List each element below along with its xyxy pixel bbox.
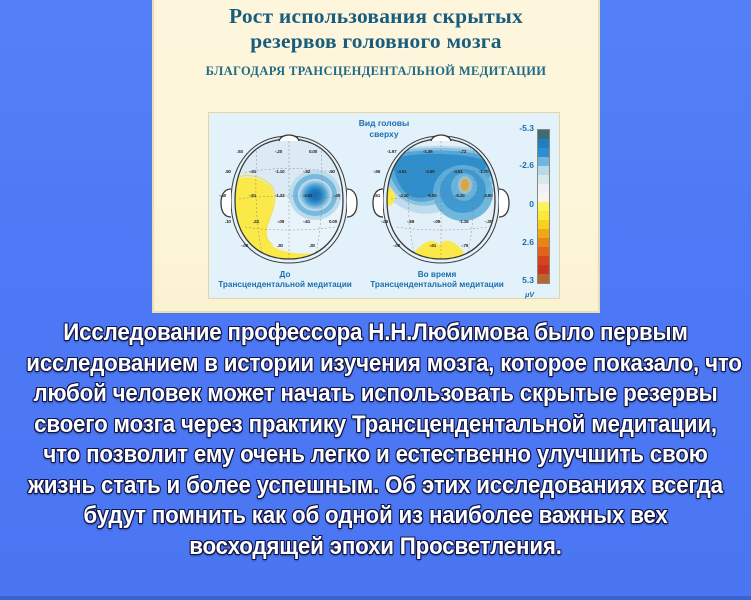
colorbar-tick-4: 5.3	[522, 275, 534, 285]
head-map-before: .93-.200.00.50-.61-1.10-.92.50-.40-.61-1…	[215, 133, 363, 273]
map-value-label: -.40	[219, 193, 226, 198]
chart-view-caption-line1: Вид головы	[302, 118, 467, 129]
slide-root: Рост использования скрытых резервов голо…	[0, 0, 751, 600]
map-value-label: -2.69	[425, 169, 434, 174]
body-line-3: своего мозга через практику Трансцендент…	[26, 410, 724, 441]
colorbar-unit-label: μV	[525, 292, 534, 299]
map-value-label: -.30	[485, 219, 492, 224]
colorbar-band-13	[538, 247, 549, 256]
body-line-6: будут помнить как об одной из наиболее в…	[26, 501, 724, 532]
title-block: Рост использования скрытых резервов голо…	[154, 4, 598, 79]
colorbar-band-2	[538, 148, 549, 157]
map-value-label: -.69	[407, 219, 414, 224]
map-value-label: -1.32	[275, 193, 284, 198]
map-value-label: -4.61	[303, 193, 312, 198]
map-value-label: -.55	[373, 169, 380, 174]
bottom-edge-strip	[0, 596, 751, 600]
map-value-label: -.61	[373, 193, 380, 198]
body-line-5: жизнь стать и более успешным. Об этих ис…	[26, 471, 724, 502]
colorbar-band-15	[538, 265, 549, 274]
map-value-label: -.09	[277, 219, 284, 224]
colorbar-band-8	[538, 202, 549, 211]
map-value-label: -.00	[393, 243, 400, 248]
map-value-label: -5.00	[427, 193, 436, 198]
body-line-4: что позволит ему очень легко и естествен…	[26, 440, 724, 471]
colorbar-band-5	[538, 175, 549, 184]
head-map-during: -1.97-1.36-.73-.55-3.61-2.69-3.01-1.70-.…	[367, 133, 515, 273]
colorbar-band-7	[538, 193, 549, 202]
colorbar-legend: -5.3 -2.6 0 2.6 5.3 μV	[506, 123, 552, 290]
map-value-label: -.61	[429, 243, 436, 248]
colorbar-gradient	[537, 129, 550, 284]
map-value-label: -.73	[459, 149, 466, 154]
colorbar-band-0	[538, 130, 549, 139]
map-value-label: -.79	[461, 243, 468, 248]
colorbar-band-16	[538, 274, 549, 283]
colorbar-tick-0: -5.3	[519, 123, 534, 133]
map-value-label: -3.61	[397, 169, 406, 174]
head-map-before-svg	[215, 133, 363, 273]
map-value-label: .30	[277, 243, 283, 248]
eeg-chart-panel: Вид головы сверху	[208, 112, 560, 299]
map-value-label: -1.97	[387, 149, 396, 154]
map-value-label: .50	[225, 169, 231, 174]
map-value-label: -1.36	[423, 149, 432, 154]
page-title-line-2: резервов головного мозга	[154, 29, 598, 54]
page-subtitle: БЛАГОДАРЯ ТРАНСЦЕНДЕНТАЛЬНОЙ МЕДИТАЦИИ	[154, 63, 598, 79]
head-map-during-svg	[367, 133, 515, 273]
map-value-label: -.61	[249, 169, 256, 174]
colorbar-band-3	[538, 157, 549, 166]
caption-before-bottom: Трансцендентальной медитации	[201, 280, 369, 289]
colorbar-tick-2: 0	[529, 199, 534, 209]
map-value-label: .10	[225, 219, 231, 224]
caption-during-bottom: Трансцендентальной медитации	[353, 280, 521, 289]
map-value-label: -.20	[275, 149, 282, 154]
map-value-label: -1.16	[459, 219, 468, 224]
colorbar-band-12	[538, 238, 549, 247]
map-value-label: .93	[237, 149, 243, 154]
map-value-label: -.00	[241, 243, 248, 248]
colorbar-band-14	[538, 256, 549, 265]
colorbar-band-1	[538, 139, 549, 148]
map-value-label: .24	[253, 219, 259, 224]
colorbar-band-9	[538, 211, 549, 220]
body-line-2: любой человек может начать использовать …	[26, 379, 724, 410]
colorbar-tick-1: -2.6	[519, 160, 534, 170]
map-value-label: -.45	[333, 193, 340, 198]
map-value-label: 0.00	[309, 149, 317, 154]
page-title-line-1: Рост использования скрытых	[154, 4, 598, 29]
map-value-label: -3.01	[453, 169, 462, 174]
colorbar-tick-3: 2.6	[522, 237, 534, 247]
caption-before-top: До	[211, 270, 359, 279]
map-value-label: -.61	[249, 193, 256, 198]
body-line-0: Исследование профессора Н.Н.Любимова был…	[26, 318, 724, 349]
map-value-label: -.61	[303, 219, 310, 224]
map-value-label: -.09	[433, 219, 440, 224]
header-panel: Рост использования скрытых резервов голо…	[152, 0, 600, 313]
map-value-label: -4.50	[483, 193, 492, 198]
colorbar-band-6	[538, 184, 549, 193]
map-value-label: -.06	[381, 219, 388, 224]
map-value-label: -1.10	[275, 169, 284, 174]
map-value-label: .30	[309, 243, 315, 248]
colorbar-band-4	[538, 166, 549, 175]
colorbar-band-10	[538, 220, 549, 229]
body-paragraph: Исследование профессора Н.Н.Любимова был…	[0, 318, 751, 562]
map-value-label: -4.10	[399, 193, 408, 198]
caption-during-top: Во время	[363, 270, 511, 279]
map-value-label: .50	[329, 169, 335, 174]
map-value-label: 0.00	[329, 219, 337, 224]
map-value-label: -.92	[303, 169, 310, 174]
body-line-7: восходящей эпохи Просветления.	[26, 532, 724, 563]
colorbar-band-11	[538, 229, 549, 238]
map-value-label: -5.10	[455, 193, 464, 198]
body-line-1: исследованием в истории изучения мозга, …	[26, 349, 724, 380]
map-value-label: -1.70	[479, 169, 488, 174]
